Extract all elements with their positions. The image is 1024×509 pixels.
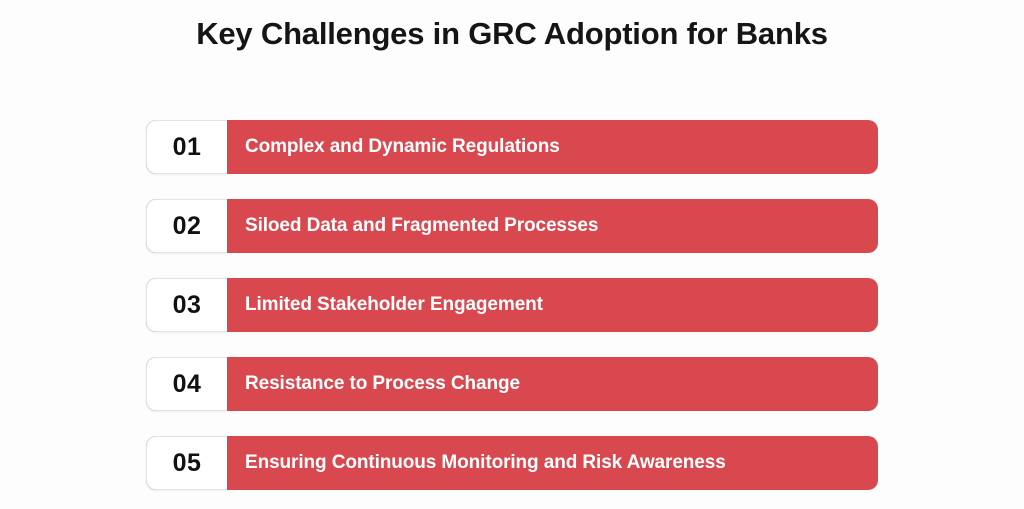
- list-item: 04 Resistance to Process Change: [146, 357, 878, 411]
- list-item-number-badge: 04: [146, 357, 227, 411]
- list-item-number: 03: [173, 293, 202, 318]
- list-item-number: 02: [173, 214, 202, 239]
- challenges-list: 01 Complex and Dynamic Regulations 02 Si…: [146, 120, 878, 490]
- list-item-number-badge: 03: [146, 278, 227, 332]
- list-item: 05 Ensuring Continuous Monitoring and Ri…: [146, 436, 878, 490]
- list-item-number: 01: [173, 135, 202, 160]
- list-item: 02 Siloed Data and Fragmented Processes: [146, 199, 878, 253]
- list-item-number-badge: 01: [146, 120, 227, 174]
- list-item-label: Siloed Data and Fragmented Processes: [245, 199, 598, 253]
- page-title: Key Challenges in GRC Adoption for Banks: [0, 14, 1024, 54]
- list-item: 03 Limited Stakeholder Engagement: [146, 278, 878, 332]
- list-item: 01 Complex and Dynamic Regulations: [146, 120, 878, 174]
- list-item-label: Limited Stakeholder Engagement: [245, 278, 543, 332]
- list-item-number-badge: 02: [146, 199, 227, 253]
- list-item-label: Complex and Dynamic Regulations: [245, 120, 560, 174]
- list-item-label: Resistance to Process Change: [245, 357, 520, 411]
- list-item-number-badge: 05: [146, 436, 227, 490]
- list-item-number: 04: [173, 372, 202, 397]
- list-item-label: Ensuring Continuous Monitoring and Risk …: [245, 436, 726, 490]
- list-item-number: 05: [173, 451, 202, 476]
- infographic-container: Key Challenges in GRC Adoption for Banks…: [0, 0, 1024, 509]
